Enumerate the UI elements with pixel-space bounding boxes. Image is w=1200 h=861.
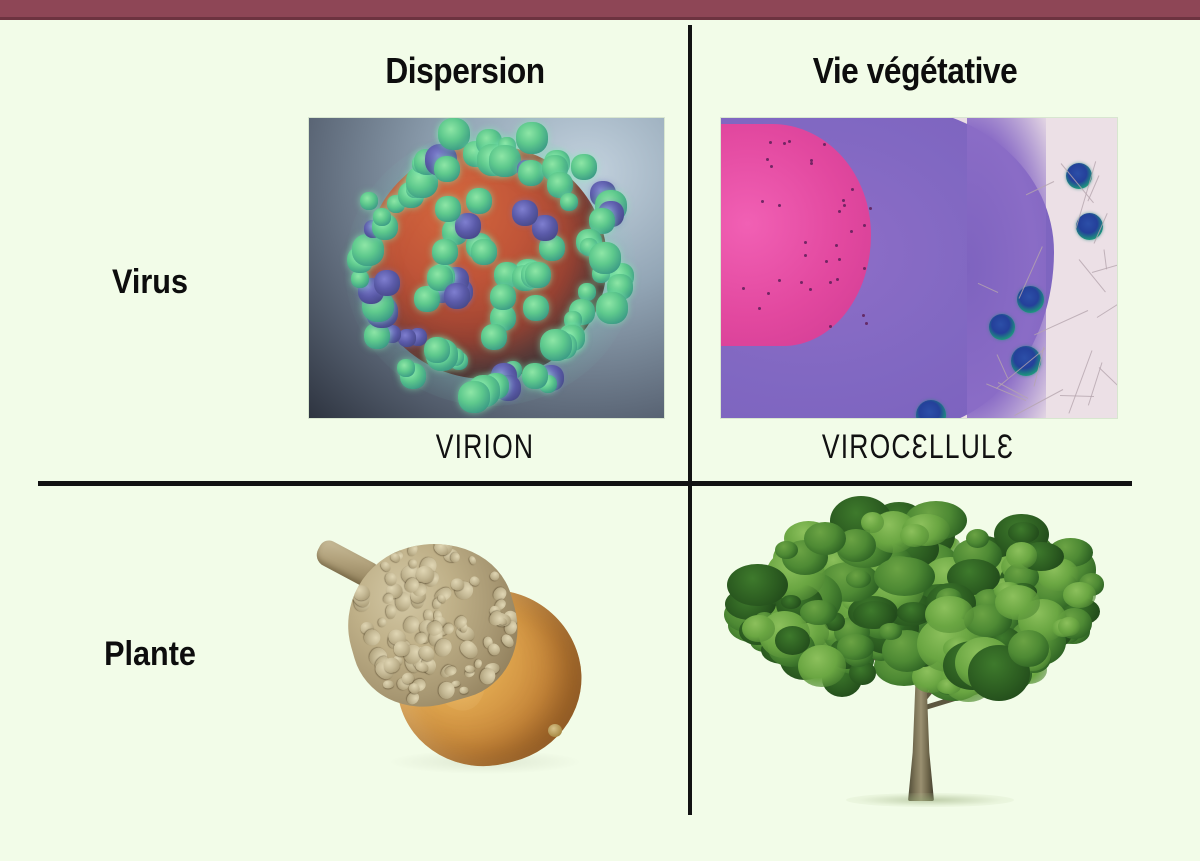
virion-spike <box>523 295 549 321</box>
canopy-foliage <box>800 600 838 625</box>
virion-spike <box>360 192 378 210</box>
cupule-scale <box>379 560 392 573</box>
comparison-figure: Dispersion Vie végétative Virus Plante V… <box>0 0 1200 861</box>
cupule-scale <box>457 637 481 661</box>
canopy-foliage <box>874 557 935 596</box>
virion-spike <box>589 242 621 274</box>
cupule-scale <box>378 618 387 628</box>
virion-spike <box>516 122 548 154</box>
virion-spike <box>435 196 461 222</box>
caption-virocellule: VIROCƐLLULƐ <box>762 428 1074 467</box>
budding-virion <box>989 314 1015 340</box>
virion-spike <box>490 284 516 310</box>
nucleus-speck <box>769 141 772 144</box>
cupule-scale <box>450 552 460 563</box>
canopy-foliage <box>1008 630 1049 668</box>
nucleus-speck <box>862 314 865 317</box>
caption-virion: VIRION <box>341 428 630 467</box>
oak-tree-photo <box>722 495 1122 815</box>
canopy-foliage <box>727 564 788 606</box>
virion-spike <box>432 239 458 265</box>
column-divider-rule <box>688 25 692 815</box>
acorn-tip <box>548 724 562 737</box>
nucleus-speck <box>761 200 764 203</box>
canopy-foliage <box>775 626 811 655</box>
virion-spike <box>458 381 490 413</box>
virion-spike <box>518 160 544 186</box>
canopy-foliage <box>781 595 801 609</box>
canopy-foliage <box>804 522 846 555</box>
top-accent-band-shadow <box>0 17 1200 20</box>
virion-spike <box>434 156 460 182</box>
nucleus-speck <box>788 140 791 143</box>
virion-spike <box>466 188 492 214</box>
virion-spike <box>374 270 400 296</box>
cupule-scale <box>406 542 418 557</box>
cupule-scale <box>468 555 478 566</box>
cupule-scale <box>394 641 410 656</box>
cupule-scale <box>460 687 469 695</box>
nucleus-speck <box>800 281 803 284</box>
virion-spike <box>596 292 628 324</box>
virion-spike <box>471 239 497 265</box>
canopy-foliage <box>1008 522 1038 543</box>
virion-particle-photo <box>308 117 665 419</box>
canopy-foliage <box>900 524 929 547</box>
nucleus-speck <box>838 210 841 213</box>
canopy-foliage <box>798 645 845 688</box>
virion-spike <box>540 329 572 361</box>
canopy-foliage <box>1058 617 1080 636</box>
canopy-foliage <box>742 615 775 642</box>
row-divider-rule <box>38 481 1132 486</box>
virion-spike <box>512 200 538 226</box>
nucleus-speck <box>783 142 786 145</box>
acorn-photo <box>300 512 600 782</box>
cupule-scale <box>474 659 482 669</box>
cupule-scale <box>499 632 516 649</box>
cupule-scale <box>386 605 397 619</box>
canopy-foliage <box>1006 542 1038 569</box>
virion-spike <box>571 154 597 180</box>
virion-spike <box>522 363 548 389</box>
cupule-scale <box>383 680 394 689</box>
virion-spike <box>424 337 450 363</box>
nucleus-speck <box>838 258 841 261</box>
virion-spike <box>455 213 481 239</box>
canopy-foliage <box>775 541 798 560</box>
canopy-foliage <box>846 570 871 588</box>
cupule-scale <box>489 570 502 583</box>
canopy-foliage <box>1063 582 1096 607</box>
virion-spike <box>397 359 415 377</box>
canopy-foliage <box>879 623 902 640</box>
column-header-dispersion: Dispersion <box>267 50 663 92</box>
virion-spike <box>444 283 470 309</box>
nucleus-speck <box>829 281 832 284</box>
tree-ground-shadow <box>846 793 1014 807</box>
virion-spike <box>525 262 551 288</box>
nucleus-speck <box>843 204 846 207</box>
budding-virion <box>1076 213 1103 240</box>
virocellule-micrograph-photo <box>720 117 1118 419</box>
canopy-foliage <box>925 596 973 633</box>
row-header-virus: Virus <box>33 263 267 302</box>
nucleus-speck <box>810 159 813 162</box>
row-header-plante: Plante <box>33 635 267 674</box>
column-header-vie-vegetative: Vie végétative <box>721 50 1108 92</box>
cupule-scale <box>464 665 474 673</box>
virion-spike <box>481 324 507 350</box>
canopy-foliage <box>995 585 1041 620</box>
nucleus-speck <box>863 267 866 270</box>
cupule-scale <box>437 681 455 700</box>
